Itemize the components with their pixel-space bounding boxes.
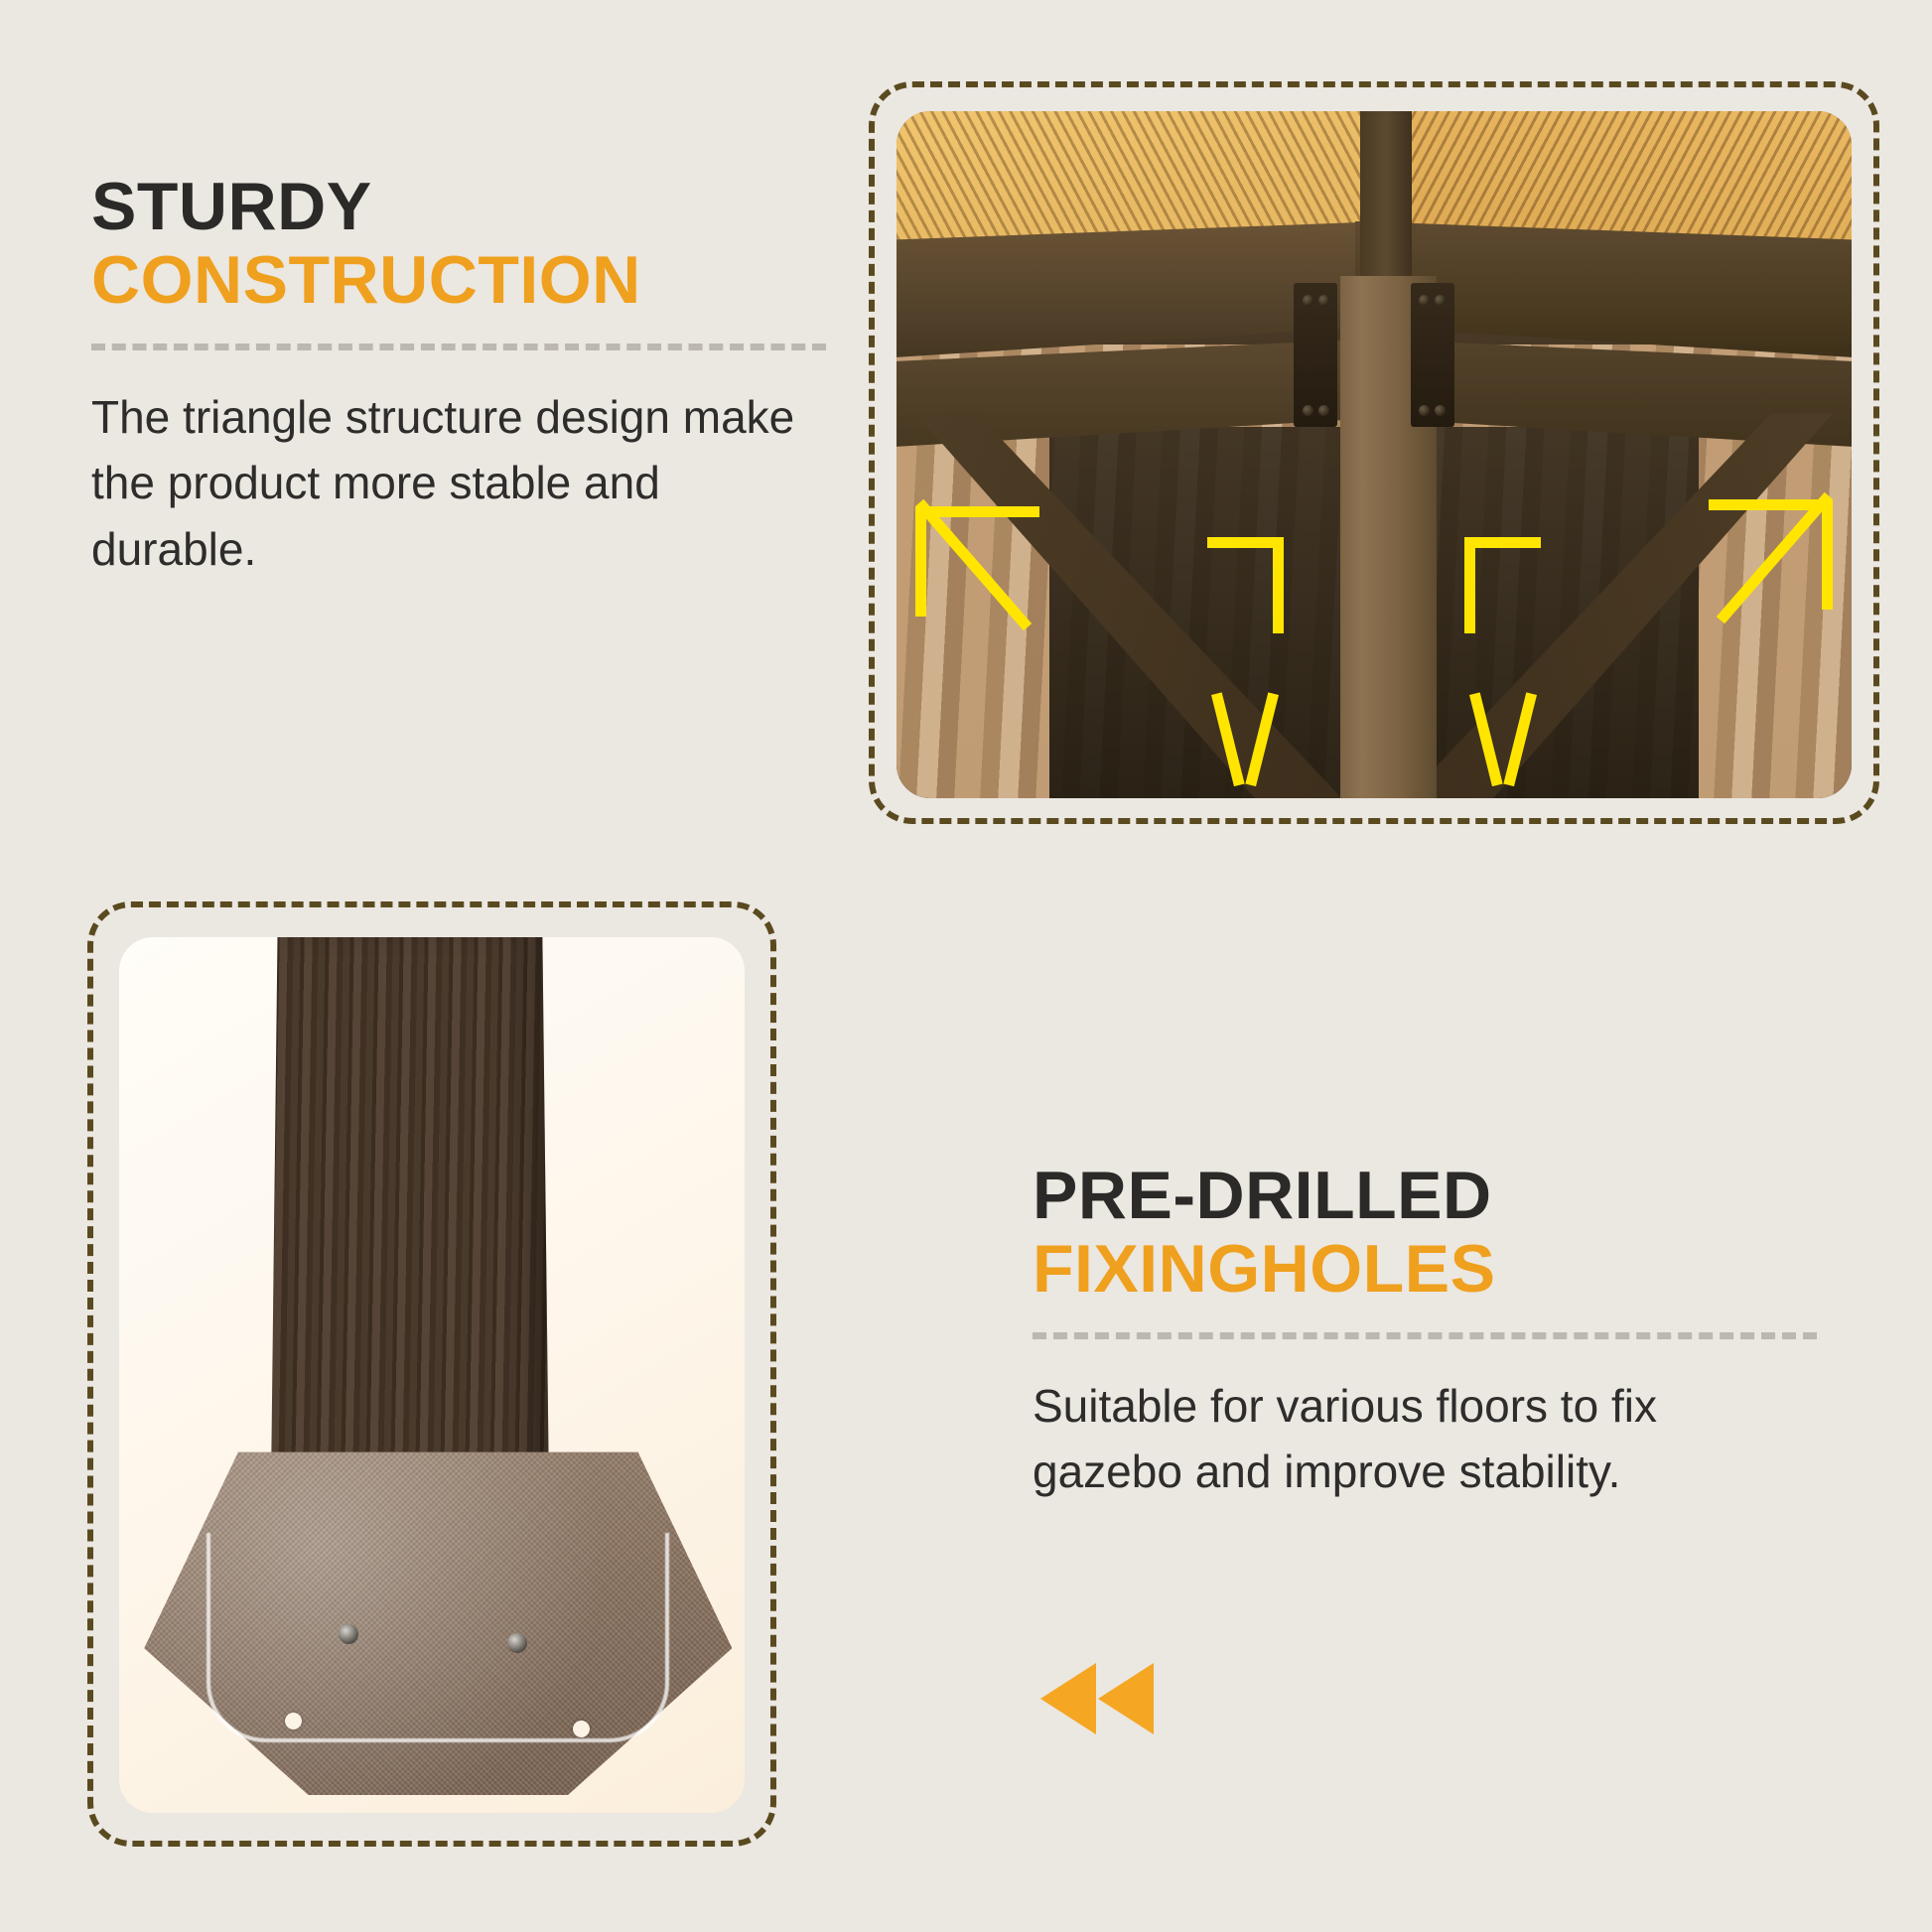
- mounting-bolt: [507, 1633, 527, 1653]
- heading-line-1: STURDY: [91, 171, 826, 242]
- heading-line-2: CONSTRUCTION: [91, 242, 826, 318]
- bolt-icon: [1303, 405, 1313, 416]
- annotation-triangle-outline-left: [915, 506, 1039, 617]
- hinge-plate-right: [1411, 283, 1454, 427]
- base-plate-raised-lip: [207, 1533, 669, 1743]
- feature-description: The triangle structure design make the p…: [91, 384, 826, 582]
- bolt-icon: [1419, 295, 1430, 306]
- dashed-divider: [1033, 1332, 1817, 1339]
- triangle-left-icon: [1098, 1663, 1154, 1734]
- feature-block-sturdy-construction: STURDY CONSTRUCTION The triangle structu…: [91, 171, 826, 582]
- bolt-icon: [1435, 405, 1446, 416]
- bolt-icon: [1318, 295, 1329, 306]
- dashed-divider: [91, 344, 826, 350]
- heading-line-1: PRE-DRILLED: [1033, 1160, 1817, 1231]
- upper-post-segment: [1360, 111, 1413, 290]
- triangle-left-icon: [1040, 1663, 1096, 1734]
- photo-base-plate: [119, 937, 745, 1813]
- hinge-plate-left: [1294, 283, 1337, 427]
- back-arrows-indicator: [1040, 1663, 1154, 1734]
- feature-block-pre-drilled-fixingholes: PRE-DRILLED FIXINGHOLES Suitable for var…: [1033, 1160, 1817, 1505]
- pre-drilled-fixing-hole: [285, 1713, 302, 1729]
- heading-line-2: FIXINGHOLES: [1033, 1231, 1817, 1307]
- annotation-arrow-down-right: [1469, 695, 1536, 798]
- annotation-corner-right-inner: [1464, 537, 1541, 633]
- pre-drilled-fixing-hole: [573, 1721, 590, 1737]
- feature-description: Suitable for various floors to fix gazeb…: [1033, 1373, 1817, 1504]
- bolt-icon: [1318, 405, 1329, 416]
- photo-triangle-structure: [897, 111, 1852, 798]
- annotation-corner-left-inner: [1207, 537, 1284, 633]
- annotation-triangle-outline-right: [1709, 499, 1833, 610]
- annotation-arrow-down-left: [1211, 695, 1278, 798]
- bolt-icon: [1435, 295, 1446, 306]
- infographic-canvas: STURDY CONSTRUCTION The triangle structu…: [0, 0, 1932, 1932]
- bolt-icon: [1303, 295, 1313, 306]
- mounting-bolt: [339, 1624, 358, 1644]
- bolt-icon: [1419, 405, 1430, 416]
